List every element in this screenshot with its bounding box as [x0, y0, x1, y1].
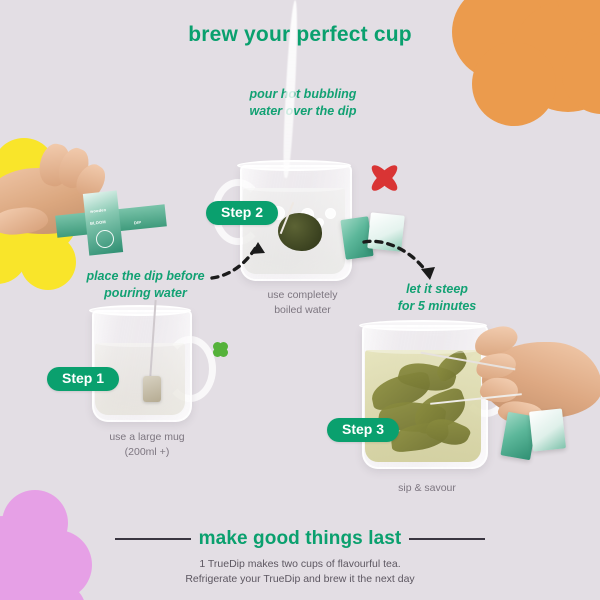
dip-packet-step-3	[504, 410, 566, 462]
footer-rule-right	[409, 538, 485, 540]
page-title: brew your perfect cup	[0, 23, 600, 47]
tea-dip-step-1	[143, 376, 161, 402]
mug-rim	[89, 305, 191, 316]
caption-large-mug: use a large mug (200ml +)	[82, 430, 212, 460]
mug-rim	[237, 160, 351, 171]
mug-liquid	[365, 350, 481, 462]
footer-rule-left	[115, 538, 191, 540]
dashed-arrow-left-icon	[208, 236, 278, 282]
mug-step-3	[362, 325, 484, 465]
step-1-badge: Step 1	[47, 367, 119, 391]
caption-sip-savour: sip & savour	[372, 481, 482, 496]
step-3-badge: Step 3	[327, 418, 399, 442]
footer-heading-row: make good things last	[0, 528, 600, 550]
mug-step-1	[92, 310, 188, 418]
note-pour-water: pour hot bubbling water over the dip	[238, 86, 368, 120]
tea-leaf-ball	[278, 213, 322, 251]
footer-body-text: 1 TrueDip makes two cups of flavourful t…	[0, 557, 600, 589]
footer: make good things last 1 TrueDip makes tw…	[0, 528, 600, 589]
dip-packet-front	[529, 408, 566, 451]
caption-boiled-water: use completely boiled water	[245, 288, 360, 318]
note-place-dip: place the dip before pouring water	[78, 268, 213, 302]
orange-flower-decoration	[452, 0, 600, 128]
step-2-badge: Step 2	[206, 201, 278, 225]
poster-canvas: brew your perfect cup Step 2 pour hot bu…	[0, 0, 600, 600]
footer-title: make good things last	[199, 528, 402, 550]
four-petal-star-icon	[367, 161, 401, 195]
mug-rim	[359, 320, 487, 331]
dashed-arrow-right-icon	[360, 236, 450, 288]
pack-tag-label: DIP	[134, 220, 142, 226]
product-pack: wooden BLOOM DIP	[56, 196, 166, 252]
steeped-tea-leaves	[365, 350, 481, 462]
clover-dot-icon	[213, 342, 228, 357]
